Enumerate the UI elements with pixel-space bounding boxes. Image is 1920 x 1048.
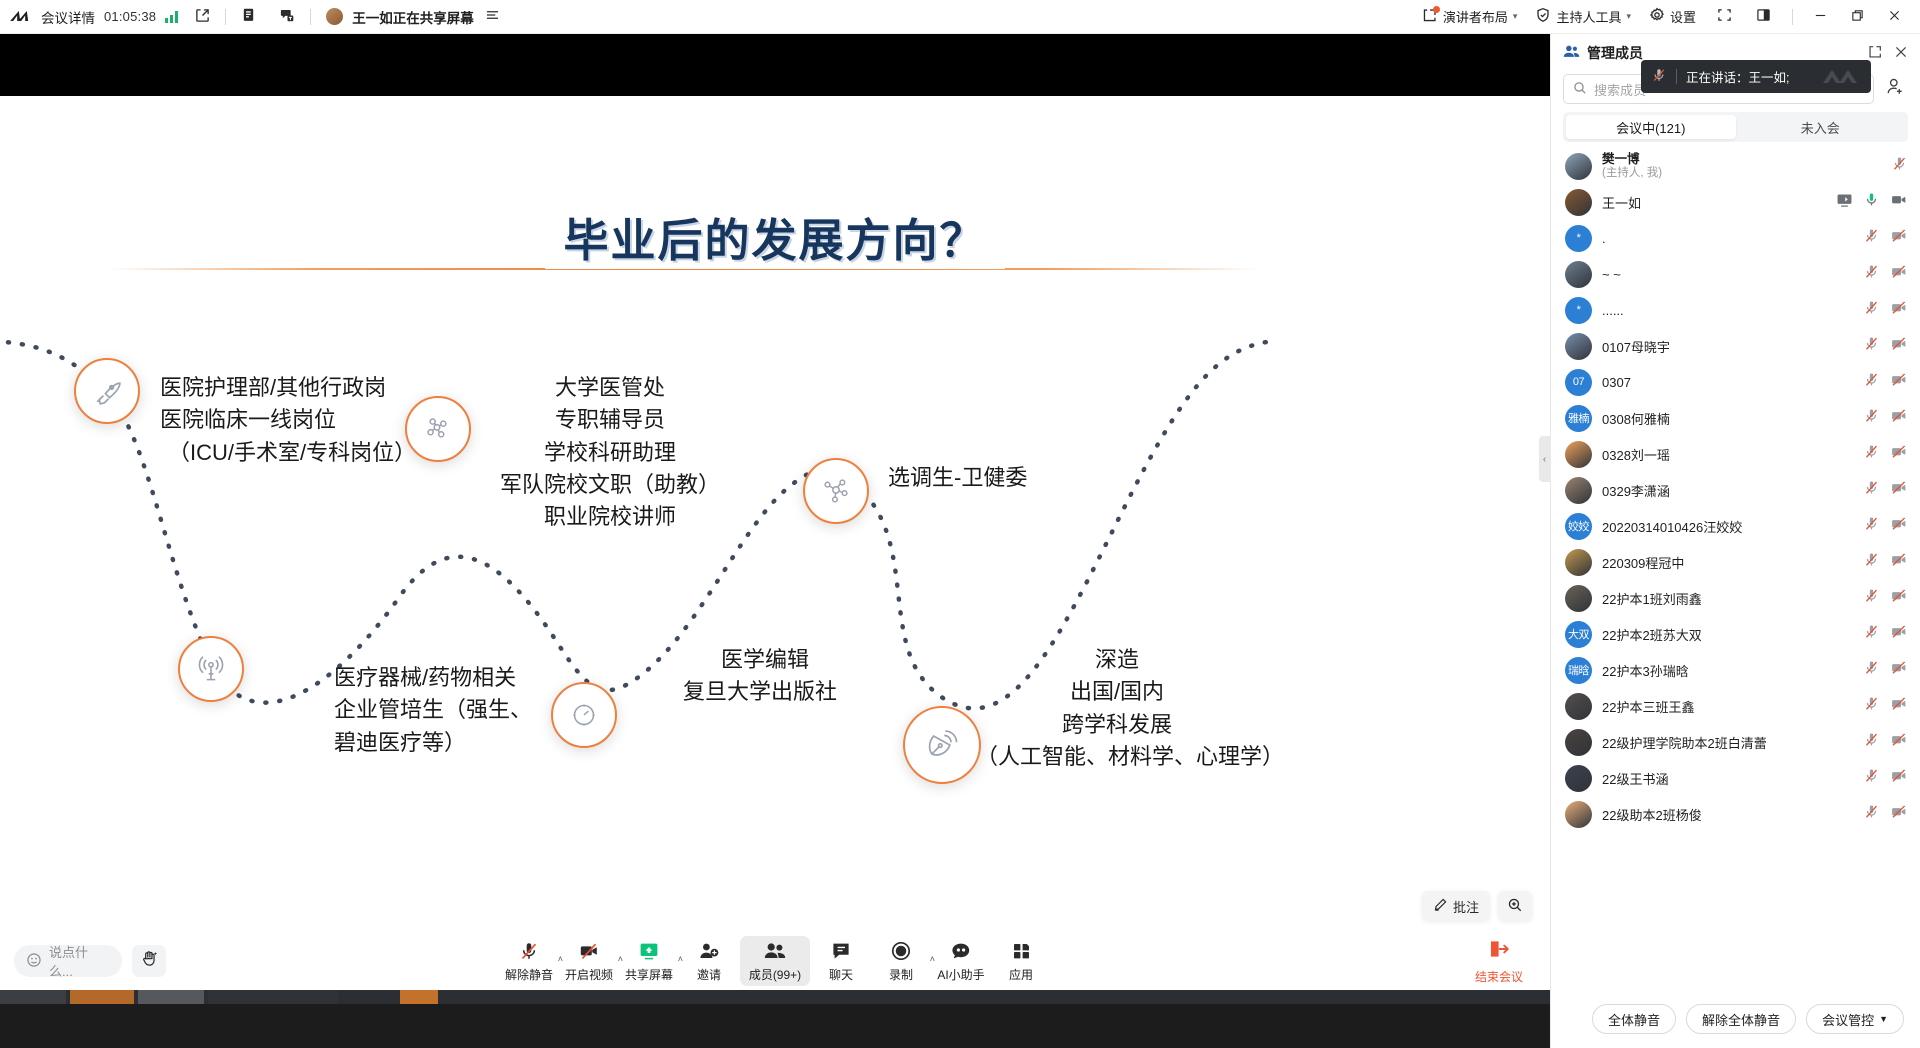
maximize-button[interactable]	[1842, 5, 1873, 29]
sharing-menu-icon[interactable]	[485, 9, 500, 24]
avatar	[1565, 729, 1592, 756]
raise-hand-icon	[140, 949, 159, 973]
participant-row[interactable]: ~ ~	[1555, 256, 1916, 292]
tool-label: AI小助手	[937, 966, 984, 983]
tool-label: 解除静音	[505, 966, 553, 983]
pencil-icon	[1433, 897, 1448, 915]
slide-text-block-2: 大学医管处 专职辅导员 学校科研助理 军队院校文职（助教） 职业院校讲师	[475, 372, 745, 534]
annotate-button[interactable]: 批注	[1422, 891, 1490, 921]
participant-status-icons	[1863, 371, 1908, 393]
layout-button[interactable]: 演讲者布局 ▾	[1416, 4, 1524, 29]
camera-off-icon[interactable]	[1890, 227, 1908, 249]
mute-all-button[interactable]: 全体静音	[1592, 1004, 1676, 1034]
popout-icon[interactable]	[1868, 45, 1882, 62]
layout-icon	[1422, 8, 1438, 26]
live-caption-icon[interactable]	[279, 7, 295, 26]
participant-name: .	[1602, 231, 1853, 246]
add-user-button[interactable]	[1882, 76, 1908, 102]
close-button[interactable]	[1879, 5, 1910, 29]
participant-row[interactable]: 王一如	[1555, 184, 1916, 220]
settings-label: 设置	[1670, 7, 1696, 26]
participant-row[interactable]: 0328刘一瑶	[1555, 436, 1916, 472]
raise-hand-button[interactable]	[132, 945, 166, 977]
participant-name: 0307	[1602, 375, 1853, 390]
camera-off-icon[interactable]	[1890, 803, 1908, 825]
mic-muted-icon[interactable]	[1863, 263, 1880, 285]
participant-name: 20220314010426汪姣姣	[1602, 517, 1853, 536]
node-rocket-icon	[74, 358, 140, 424]
participant-row[interactable]: 姣姣20220314010426汪姣姣	[1555, 508, 1916, 544]
participant-status-icons	[1863, 767, 1908, 789]
participant-row[interactable]: 樊一博(主持人, 我)	[1555, 148, 1916, 184]
avatar	[1565, 441, 1592, 468]
participant-row[interactable]: 0329李潇涵	[1555, 472, 1916, 508]
participant-status-icons	[1836, 191, 1908, 213]
participant-name: 0328刘一瑶	[1602, 445, 1853, 464]
panel-tabs: 会议中(121) 未入会	[1563, 112, 1908, 142]
zoom-in-button[interactable]	[1498, 891, 1532, 921]
avatar	[1565, 153, 1592, 180]
tool-participants[interactable]: 成员(99+)	[740, 936, 810, 986]
participant-status-icons	[1863, 443, 1908, 465]
avatar	[1565, 585, 1592, 612]
mic-muted-icon[interactable]	[1863, 551, 1880, 573]
end-meeting-button[interactable]: 结束会议	[1468, 938, 1530, 985]
node-satellite-dish-icon	[903, 706, 981, 784]
tool-ai-assistant[interactable]: AI小助手	[932, 936, 990, 986]
popout-window-icon[interactable]	[195, 8, 210, 26]
mic-muted-icon[interactable]	[1863, 299, 1880, 321]
camera-off-icon[interactable]	[1890, 335, 1908, 357]
mic-muted-icon[interactable]	[1863, 515, 1880, 537]
mic-muted-icon[interactable]	[1863, 695, 1880, 717]
participant-name: 22级助本2班杨俊	[1602, 805, 1853, 824]
participant-name: 220309程冠中	[1602, 553, 1853, 572]
avatar: 07	[1565, 369, 1592, 396]
taskbar-strip	[0, 990, 1550, 1004]
participant-row[interactable]: 雅楠0308何雅楠	[1555, 400, 1916, 436]
participant-row[interactable]: 0107母晓宇	[1555, 328, 1916, 364]
invite-user-icon	[698, 940, 720, 963]
participant-list[interactable]: 樊一博(主持人, 我)王一如*.~ ~*......0107母晓宇070307雅…	[1551, 148, 1920, 990]
avatar	[1565, 801, 1592, 828]
tool-share-screen[interactable]: 共享屏幕 ˄	[620, 936, 678, 986]
mic-muted-icon[interactable]	[1863, 335, 1880, 357]
participant-row[interactable]: 22级护理学院助本2班白清蕾	[1555, 724, 1916, 760]
mic-muted-icon[interactable]	[1863, 623, 1880, 645]
add-user-icon	[1886, 77, 1905, 101]
participant-row[interactable]: 22级助本2班杨俊	[1555, 796, 1916, 832]
mic-muted-icon[interactable]	[1863, 371, 1880, 393]
apps-grid-icon	[1011, 940, 1032, 963]
participant-status-icons	[1863, 731, 1908, 753]
meeting-control-label: 会议管控	[1822, 1010, 1874, 1029]
participant-status-icons	[1863, 587, 1908, 609]
mic-on-icon[interactable]	[1863, 191, 1880, 213]
collapse-panel-icon[interactable]: ‹	[1539, 436, 1550, 482]
speaking-toast-text: 正在讲话：王一如;	[1686, 67, 1789, 86]
camera-off-icon[interactable]	[1890, 263, 1908, 285]
mic-muted-icon[interactable]	[1863, 659, 1880, 681]
avatar	[1565, 333, 1592, 360]
page-title: 毕业后的发展方向？	[545, 204, 1004, 269]
avatar: 瑞晗	[1565, 657, 1592, 684]
signal-bars-icon[interactable]	[165, 10, 178, 23]
panel-title: 管理成员	[1587, 43, 1643, 63]
top-bar: 会议详情 01:05:38	[0, 0, 1920, 34]
participant-status-icons	[1863, 335, 1908, 357]
participants-icon	[763, 940, 787, 963]
participant-name: 22级王书涵	[1602, 769, 1853, 788]
tool-label: 共享屏幕	[625, 966, 673, 983]
leave-meeting-icon	[1487, 938, 1511, 965]
participant-name: 22护本1班刘雨鑫	[1602, 589, 1853, 608]
participant-row[interactable]: *......	[1555, 292, 1916, 328]
participant-row[interactable]: 大双22护本2班苏大双	[1555, 616, 1916, 652]
mic-muted-icon[interactable]	[1863, 803, 1880, 825]
participant-row[interactable]: *.	[1555, 220, 1916, 256]
panel-footer: 全体静音 解除全体静音 会议管控 ▼	[1551, 990, 1920, 1048]
avatar: *	[1565, 225, 1592, 252]
ai-assistant-icon	[950, 940, 972, 963]
avatar: 雅楠	[1565, 405, 1592, 432]
participant-row[interactable]: 070307	[1555, 364, 1916, 400]
mic-muted-icon[interactable]	[1863, 227, 1880, 249]
speaking-toast: 正在讲话：王一如;	[1641, 60, 1871, 93]
slide-text-block-5: 医学编辑 复旦大学出版社	[690, 644, 840, 709]
zoom-in-icon	[1507, 897, 1523, 916]
tool-start-video[interactable]: 开启视频 ˄	[560, 936, 618, 986]
host-tools-button[interactable]: 主持人工具 ▾	[1529, 4, 1637, 29]
tool-label: 应用	[1009, 966, 1033, 983]
tool-label: 录制	[889, 966, 913, 983]
mic-muted-icon[interactable]	[1863, 479, 1880, 501]
participant-name: 22护本三班王鑫	[1602, 697, 1853, 716]
participant-name: 22护本2班苏大双	[1602, 625, 1853, 644]
meeting-timer: 01:05:38	[104, 9, 156, 24]
camera-off-icon	[578, 940, 600, 963]
mic-muted-icon[interactable]	[1863, 587, 1880, 609]
mic-muted-icon[interactable]	[1863, 767, 1880, 789]
fullscreen-button[interactable]	[1708, 4, 1741, 29]
say-something-input[interactable]: 说点什么...	[14, 945, 122, 977]
avatar	[1565, 261, 1592, 288]
camera-off-icon[interactable]	[1890, 767, 1908, 789]
participant-row[interactable]: 22护本三班王鑫	[1555, 688, 1916, 724]
meeting-detail-label[interactable]: 会议详情	[41, 7, 95, 27]
participant-name: 0107母晓宇	[1602, 337, 1853, 356]
node-network-node-icon	[803, 458, 869, 524]
split-view-button[interactable]	[1747, 4, 1780, 29]
camera-icon[interactable]	[1890, 191, 1908, 213]
meeting-bottom-bar: 说点什么... 解除静音	[0, 932, 1550, 990]
participant-status-icons	[1863, 299, 1908, 321]
search-placeholder: 搜索成员	[1594, 80, 1646, 99]
participant-status-icons	[1863, 479, 1908, 501]
minimize-button[interactable]	[1805, 5, 1836, 29]
mooc-logo-icon	[12, 10, 32, 23]
layout-label: 演讲者布局	[1443, 7, 1508, 26]
camera-off-icon[interactable]	[1890, 407, 1908, 429]
participant-name: ~ ~	[1602, 267, 1853, 282]
participant-name: 22级护理学院助本2班白清蕾	[1602, 733, 1853, 752]
avatar	[1565, 765, 1592, 792]
mic-muted-icon[interactable]	[1863, 407, 1880, 429]
participant-status-icons	[1863, 263, 1908, 285]
tab-not-joined[interactable]: 未入会	[1736, 115, 1906, 139]
participant-status-icons	[1863, 695, 1908, 717]
settings-button[interactable]: 设置	[1643, 4, 1702, 29]
presentation-slide[interactable]: 毕业后的发展方向？	[0, 96, 1550, 941]
chevron-down-icon: ▾	[1626, 11, 1631, 22]
avatar: 姣姣	[1565, 513, 1592, 540]
meeting-tools: 解除静音 ˄ 开启视频 ˄	[500, 936, 1050, 986]
participant-name: 0329李潇涵	[1602, 481, 1853, 500]
slide-text-block-6: 深造 出国/国内 跨学科发展 （人工智能、材料学、心理学）	[980, 644, 1254, 773]
meeting-control-button[interactable]: 会议管控 ▼	[1806, 1004, 1904, 1034]
participant-row[interactable]: 22护本1班刘雨鑫	[1555, 580, 1916, 616]
participant-status-icons	[1863, 623, 1908, 645]
avatar	[1565, 693, 1592, 720]
tool-unmute[interactable]: 解除静音 ˄	[500, 936, 558, 986]
tool-label: 邀请	[697, 966, 721, 983]
camera-off-icon[interactable]	[1890, 659, 1908, 681]
participant-name: ......	[1602, 303, 1853, 318]
unmute-all-button[interactable]: 解除全体静音	[1686, 1004, 1796, 1034]
tool-label: 聊天	[829, 966, 853, 983]
mic-muted-icon[interactable]	[1863, 731, 1880, 753]
mic-muted-icon[interactable]	[1863, 443, 1880, 465]
avatar: *	[1565, 297, 1592, 324]
avatar	[1565, 549, 1592, 576]
shared-screen-stage: 毕业后的发展方向？	[0, 34, 1550, 1004]
say-something-placeholder: 说点什么...	[49, 942, 106, 980]
participant-status-icons	[1863, 227, 1908, 249]
camera-off-icon[interactable]	[1890, 587, 1908, 609]
record-icon	[890, 940, 912, 963]
participant-name: 樊一博(主持人, 我)	[1602, 152, 1881, 180]
slide-text-block-4: 医疗器械/药物相关 企业管培生（强生、 碧迪医疗等）	[334, 662, 532, 759]
participant-name: 0308何雅楠	[1602, 409, 1853, 428]
participant-status-icons	[1863, 659, 1908, 681]
caret-down-icon: ▼	[1879, 1014, 1888, 1024]
camera-off-icon[interactable]	[1890, 515, 1908, 537]
camera-off-icon[interactable]	[1890, 299, 1908, 321]
share-screen-icon	[638, 940, 660, 963]
chevron-down-icon: ▾	[1513, 11, 1518, 22]
tool-label: 开启视频	[565, 966, 613, 983]
smiley-icon	[26, 952, 42, 971]
camera-off-icon[interactable]	[1890, 731, 1908, 753]
host-tools-label: 主持人工具	[1556, 7, 1621, 26]
participant-status-icons	[1863, 407, 1908, 429]
close-icon[interactable]	[1894, 45, 1908, 62]
sharing-status-text: 王一如正在共享屏幕	[352, 7, 474, 27]
participant-name: 22护本3孙瑞晗	[1602, 661, 1853, 680]
camera-off-icon[interactable]	[1890, 371, 1908, 393]
participant-row[interactable]: 220309程冠中	[1555, 544, 1916, 580]
camera-off-icon[interactable]	[1890, 443, 1908, 465]
chat-icon	[830, 940, 852, 963]
gear-icon	[1649, 7, 1665, 26]
watermark-logo-icon	[1821, 67, 1865, 88]
mic-muted-red-icon	[1651, 67, 1667, 86]
screen-share-icon[interactable]	[1836, 192, 1853, 213]
avatar: 大双	[1565, 621, 1592, 648]
participants-panel: 管理成员 正在讲话：王一如;	[1550, 34, 1920, 1048]
search-icon	[1573, 81, 1587, 98]
participant-status-icons	[1863, 551, 1908, 573]
camera-off-icon[interactable]	[1890, 479, 1908, 501]
tool-record[interactable]: 录制 ˄	[872, 936, 930, 986]
shield-check-icon	[1535, 7, 1551, 26]
slide-text-block-3: 选调生-卫健委	[888, 462, 1027, 494]
tool-chat[interactable]: 聊天	[812, 936, 870, 986]
participant-row[interactable]: 22级王书涵	[1555, 760, 1916, 796]
meeting-notes-icon[interactable]	[241, 7, 256, 26]
tab-in-meeting[interactable]: 会议中(121)	[1566, 115, 1736, 139]
participant-name: 王一如	[1602, 193, 1826, 212]
avatar	[1565, 189, 1592, 216]
camera-off-icon[interactable]	[1890, 623, 1908, 645]
mic-muted-icon	[518, 940, 540, 963]
tool-apps[interactable]: 应用	[992, 936, 1050, 986]
participant-status-icons	[1863, 515, 1908, 537]
camera-off-icon[interactable]	[1890, 551, 1908, 573]
camera-off-icon[interactable]	[1890, 695, 1908, 717]
end-meeting-label: 结束会议	[1475, 968, 1523, 985]
annotate-label: 批注	[1453, 897, 1479, 916]
sharer-avatar	[326, 8, 343, 25]
mic-muted-icon[interactable]	[1891, 155, 1908, 177]
slide-text-block-1: 医院护理部/其他行政岗 医院临床一线岗位 （ICU/手术室/专科岗位）	[160, 372, 416, 469]
tool-invite[interactable]: 邀请	[680, 936, 738, 986]
participant-status-icons	[1863, 803, 1908, 825]
manage-members-icon	[1563, 44, 1580, 62]
participant-status-icons	[1891, 155, 1908, 177]
node-antenna-tower-icon	[178, 636, 244, 702]
tool-label: 成员(99+)	[749, 966, 801, 983]
avatar	[1565, 477, 1592, 504]
participant-row[interactable]: 瑞晗22护本3孙瑞晗	[1555, 652, 1916, 688]
node-gauge-icon	[551, 682, 617, 748]
panel-header: 管理成员 正在讲话：王一如;	[1551, 38, 1920, 68]
